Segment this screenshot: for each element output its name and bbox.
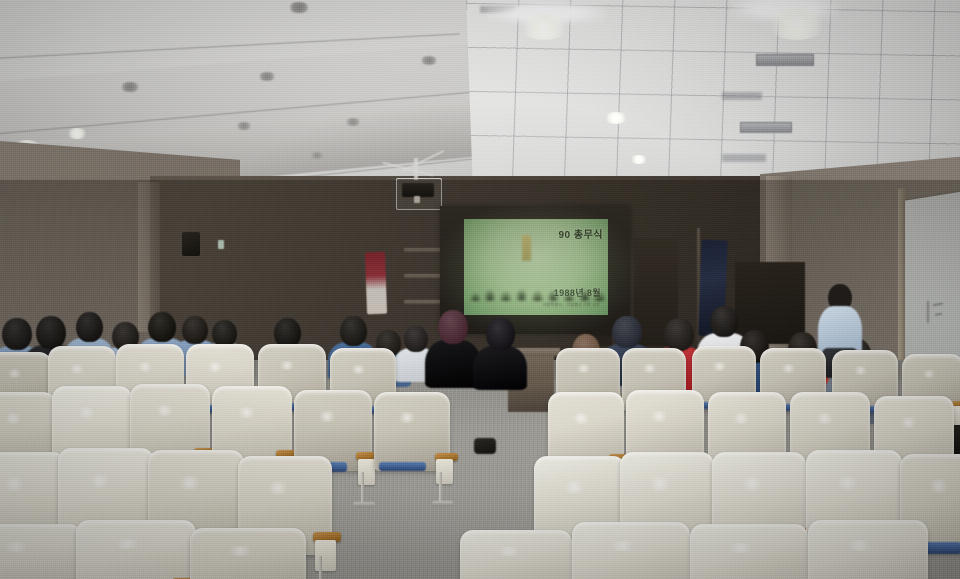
seat-pedestal [361, 472, 364, 504]
auditorium-seat[interactable] [0, 524, 82, 579]
seat-highlight [3, 413, 23, 424]
person-head [404, 326, 428, 352]
person-head [212, 320, 237, 347]
auditorium-seat[interactable] [572, 522, 690, 579]
person-head [486, 318, 515, 350]
seat-highlight [177, 476, 202, 490]
projector-mount-pole [414, 158, 418, 180]
projection-screen: 90 총무식 1988년 8월 서울특별시 · 기념행사 기록 사진 [464, 219, 608, 315]
seat-highlight [494, 547, 523, 556]
seat-side-panel [953, 406, 960, 425]
ceiling-light-off-icon [310, 152, 324, 159]
seat-pedestal [319, 556, 322, 579]
auditorium-seat[interactable] [808, 520, 928, 579]
person-torso [473, 346, 527, 390]
ceiling-light-on-icon [66, 128, 88, 139]
seat-highlight [641, 364, 658, 373]
ceiling-light-off-icon [420, 56, 438, 65]
ceiling-light-off-icon [120, 82, 140, 92]
ceiling-tile-shadow [722, 154, 766, 162]
ceiling-light-off-icon [236, 122, 252, 130]
person-head [664, 318, 694, 351]
person-head [340, 316, 367, 346]
seat-highlight [6, 369, 23, 378]
seat-highlight [112, 539, 143, 549]
seat-highlight [725, 543, 756, 553]
seat-highlight [927, 479, 950, 493]
seat-highlight [898, 417, 919, 428]
ceiling-light-on-icon [766, 8, 828, 40]
whiteboard-mark [933, 303, 943, 307]
seat-back [76, 520, 196, 579]
ceiling-light-on-icon [630, 155, 648, 164]
seat-highlight [740, 477, 764, 491]
projector-icon [402, 183, 434, 197]
seat-highlight [921, 370, 937, 378]
light-switch-icon[interactable] [218, 240, 224, 249]
person-head [2, 318, 32, 350]
seat-highlight [562, 481, 586, 494]
ceiling-light-off-icon [345, 118, 361, 126]
ceiling-light-on-icon [519, 14, 569, 40]
seat-highlight [68, 364, 86, 374]
seat-highlight [607, 541, 638, 551]
seat-highlight [317, 411, 337, 422]
seat-highlight [87, 474, 112, 488]
person-head [612, 316, 642, 348]
seat-highlight [2, 477, 26, 491]
wall-pillar [138, 182, 160, 332]
seat-highlight [571, 413, 591, 424]
slide-title: 90 총무식 [558, 226, 603, 241]
person-torso [818, 306, 862, 354]
person-head [182, 316, 208, 344]
auditorium-seat[interactable] [460, 530, 572, 579]
seat-back [572, 522, 690, 579]
auditorium-seat[interactable] [374, 392, 450, 470]
auditorium-seat[interactable] [190, 528, 306, 579]
slide-date: 1988년 8월 [554, 286, 601, 299]
seat-highlight [236, 407, 257, 418]
auditorium-seat[interactable] [76, 520, 196, 579]
seat-highlight [1, 542, 31, 552]
seat-highlight [136, 362, 154, 372]
seat-highlight [649, 411, 669, 422]
seat-foot [432, 501, 453, 506]
banner-icon [365, 252, 387, 315]
ceiling-light-off-icon [258, 72, 276, 81]
person-head [148, 312, 176, 342]
seat-highlight [835, 476, 860, 490]
seat-highlight [266, 481, 290, 495]
ceiling-tile-shadow [722, 92, 762, 100]
seat-highlight [780, 364, 797, 373]
person-head [710, 306, 738, 337]
seat-highlight [648, 477, 672, 491]
auditorium-photo: 90 총무식 1988년 8월 서울특별시 · 기념행사 기록 사진 [0, 0, 960, 579]
bag [474, 438, 496, 454]
seat-pedestal [439, 472, 442, 503]
seat-highlight [731, 413, 751, 424]
person-head [36, 316, 66, 349]
ceiling-light-off-icon [288, 2, 310, 13]
seat-highlight [225, 546, 255, 556]
seat-highlight [575, 364, 592, 373]
ceiling-light-on-icon [604, 112, 628, 124]
seat-highlight [350, 365, 367, 374]
seat-cushion [379, 462, 426, 471]
seat-highlight [206, 362, 224, 372]
slide-caption: 서울특별시 · 기념행사 기록 사진 [543, 302, 600, 308]
auditorium-seat[interactable] [690, 524, 808, 579]
ceiling-vent [756, 54, 814, 66]
person-head [76, 312, 103, 342]
seat-highlight [397, 412, 417, 423]
whiteboard-mark [927, 301, 929, 323]
seat-highlight [814, 413, 835, 424]
seat-highlight [852, 366, 869, 375]
seat-highlight [844, 540, 875, 551]
ceiling-vent [740, 122, 792, 133]
seat-foot [353, 502, 375, 507]
seat-highlight [278, 361, 296, 370]
seat-highlight [76, 407, 97, 418]
speaker-icon [182, 232, 200, 256]
seat-highlight [154, 405, 175, 416]
person-head [438, 310, 468, 344]
seat-highlight [711, 362, 728, 371]
projector-lens-icon [414, 196, 420, 203]
whiteboard-mark [935, 313, 942, 316]
